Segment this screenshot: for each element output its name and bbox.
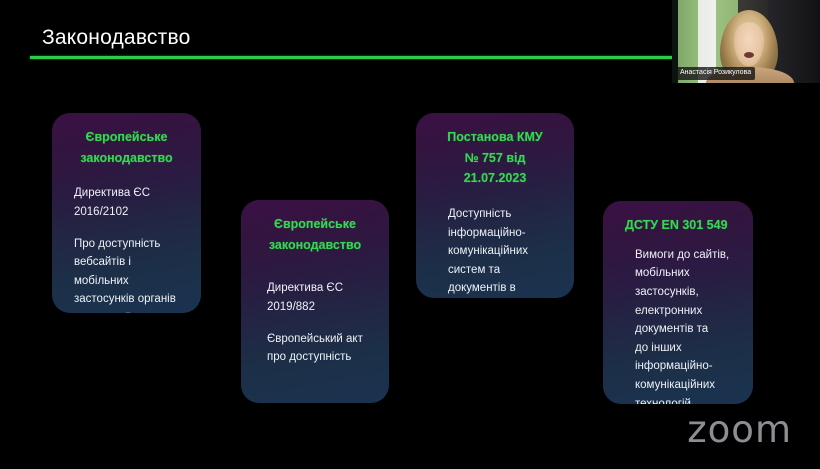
card-dstu-en-301-549: ДСТУ EN 301 549 Вимоги до сайтів, мобіль… — [603, 201, 753, 404]
title-underline-divider — [30, 56, 672, 59]
card-body-primary: Доступність інформаційно- комунікаційних… — [432, 205, 558, 298]
card-title: Європейське законодавство — [257, 214, 373, 255]
page-title: Законодавство — [42, 26, 190, 50]
card-body-secondary: Європейський акт про доступність — [257, 330, 373, 367]
participant-name-label: Анастасія Розикулова — [676, 67, 755, 81]
card-kmu-resolution-757: Постанова КМУ № 757 від 21.07.2023 Досту… — [416, 113, 574, 298]
card-body-primary: Вимоги до сайтів, мобільних застосунків,… — [619, 246, 737, 404]
zoom-logo-watermark: zoom — [687, 408, 792, 451]
card-body-primary: Директива ЄС 2019/882 — [257, 279, 373, 316]
participant-video-tile[interactable]: Анастасія Розикулова — [672, 0, 820, 83]
card-body-primary: Директива ЄС 2016/2102 — [68, 184, 185, 221]
card-title: Європейське законодавство — [68, 127, 185, 168]
card-title: Постанова КМУ № 757 від 21.07.2023 — [432, 127, 558, 189]
card-eu-directive-2019: Європейське законодавство Директива ЄС 2… — [241, 200, 389, 403]
presentation-slide: Законодавство Європейське законодавство … — [0, 0, 820, 469]
participant-mouth — [744, 52, 754, 58]
card-eu-directive-2016: Європейське законодавство Директива ЄС 2… — [52, 113, 201, 313]
card-body-secondary: Про доступність вебсайтів і мобільних за… — [68, 235, 185, 314]
card-title: ДСТУ EN 301 549 — [619, 215, 737, 236]
